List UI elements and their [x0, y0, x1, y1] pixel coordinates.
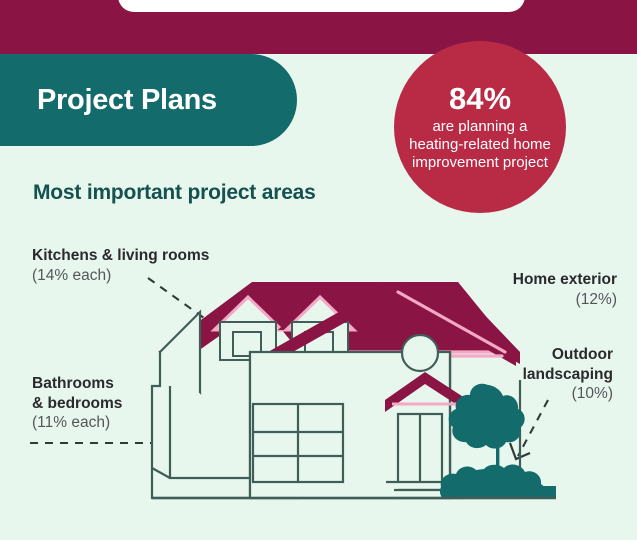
- callout-home-exterior-percent: (12%): [513, 290, 617, 310]
- bush-body: [440, 465, 545, 498]
- right-dormer-window: [305, 332, 333, 356]
- roof-right-slope: [382, 282, 517, 352]
- house-walls: [152, 312, 520, 498]
- porch-left-wall: [160, 312, 200, 498]
- tree-trunk: [496, 408, 499, 486]
- callout-outdoor-landscaping-percent: (10%): [523, 384, 613, 404]
- callout-home-exterior-title: Home exterior: [513, 270, 617, 290]
- bush: [440, 465, 556, 498]
- callout-kitchens-percent: (14% each): [32, 266, 209, 286]
- left-dormer-window: [233, 332, 261, 356]
- right-wall: [450, 352, 520, 498]
- right-dormer: [278, 288, 362, 360]
- tree-canopy: [449, 384, 525, 449]
- roof-main-body: [262, 282, 515, 352]
- porch-floor-edge: [170, 386, 300, 478]
- entry-door: [398, 414, 442, 486]
- arrow-line-exterior: [409, 304, 470, 323]
- entry-steps: [386, 482, 462, 498]
- arrowhead-landscaping: [510, 443, 530, 459]
- step-lower: [394, 490, 462, 498]
- callout-bathrooms-title-line1: Bathrooms: [32, 374, 122, 394]
- roof-main-front-edge: [270, 282, 506, 356]
- leader-arrowheads: [184, 312, 530, 459]
- callout-kitchens-title: Kitchens & living rooms: [32, 246, 209, 266]
- gable-highlight-right: [398, 292, 505, 352]
- roof-gable-front: [268, 282, 516, 366]
- right-dormer-face: [292, 322, 348, 360]
- stat-badge: 84% are planning a heating-related home …: [394, 41, 566, 213]
- arrowhead-bathrooms: [184, 434, 198, 452]
- left-dormer-face: [220, 322, 276, 360]
- bush-base: [456, 486, 556, 498]
- roof-pink-highlights: [300, 292, 502, 352]
- callout-kitchens: Kitchens & living rooms (14% each): [32, 246, 209, 285]
- callout-bathrooms-title-line2: & bedrooms: [32, 394, 122, 414]
- left-dormer-roof: [206, 288, 290, 330]
- section-subtitle: Most important project areas: [33, 181, 316, 205]
- porch-ramp: [152, 468, 170, 478]
- right-dormer-roof-inner: [286, 297, 354, 330]
- page-title: Project Plans: [37, 84, 217, 117]
- roof-gable-highlights: [286, 292, 505, 356]
- roof-left-plane: [158, 282, 420, 358]
- tree: [449, 384, 525, 486]
- top-notch-shape: [118, 0, 525, 12]
- left-dormer: [206, 288, 290, 360]
- stat-badge-caption: are planning a heating-related home impr…: [406, 118, 554, 171]
- header-band: [0, 0, 637, 54]
- entry-canopy-roof: [385, 372, 468, 412]
- callout-outdoor-landscaping: Outdoor landscaping (10%): [523, 345, 613, 404]
- arrow-line-landscaping: [518, 400, 548, 456]
- callout-bathrooms-percent: (11% each): [32, 413, 122, 433]
- arrow-line-kitchens: [148, 278, 232, 338]
- section-title-pill: Project Plans: [0, 54, 297, 146]
- front-wall-face: [250, 352, 450, 498]
- callout-bathrooms: Bathrooms & bedrooms (11% each): [32, 374, 122, 433]
- porch-outer-outline: [152, 352, 300, 498]
- roof-highlight-diagonal: [404, 292, 502, 348]
- front-window-frame: [253, 404, 343, 482]
- front-wall: [250, 352, 450, 498]
- arrowhead-kitchens: [220, 329, 235, 351]
- infographic-page: Project Plans 84% are planning a heating…: [0, 0, 637, 540]
- tree-branches: [488, 418, 510, 430]
- left-dormer-roof-inner: [214, 297, 282, 330]
- right-dormer-roof: [278, 288, 362, 330]
- entry-group: [385, 372, 468, 486]
- stat-badge-value: 84%: [449, 83, 511, 116]
- callout-outdoor-landscaping-title-line2: landscaping: [523, 365, 613, 385]
- arrowhead-exterior: [406, 312, 419, 333]
- step-upper: [386, 482, 452, 490]
- roof-wedge-right: [398, 284, 520, 364]
- callout-home-exterior: Home exterior (12%): [513, 270, 617, 309]
- round-attic-window: [402, 335, 438, 371]
- front-window: [253, 404, 343, 482]
- callout-outdoor-landscaping-title-line1: Outdoor: [523, 345, 613, 365]
